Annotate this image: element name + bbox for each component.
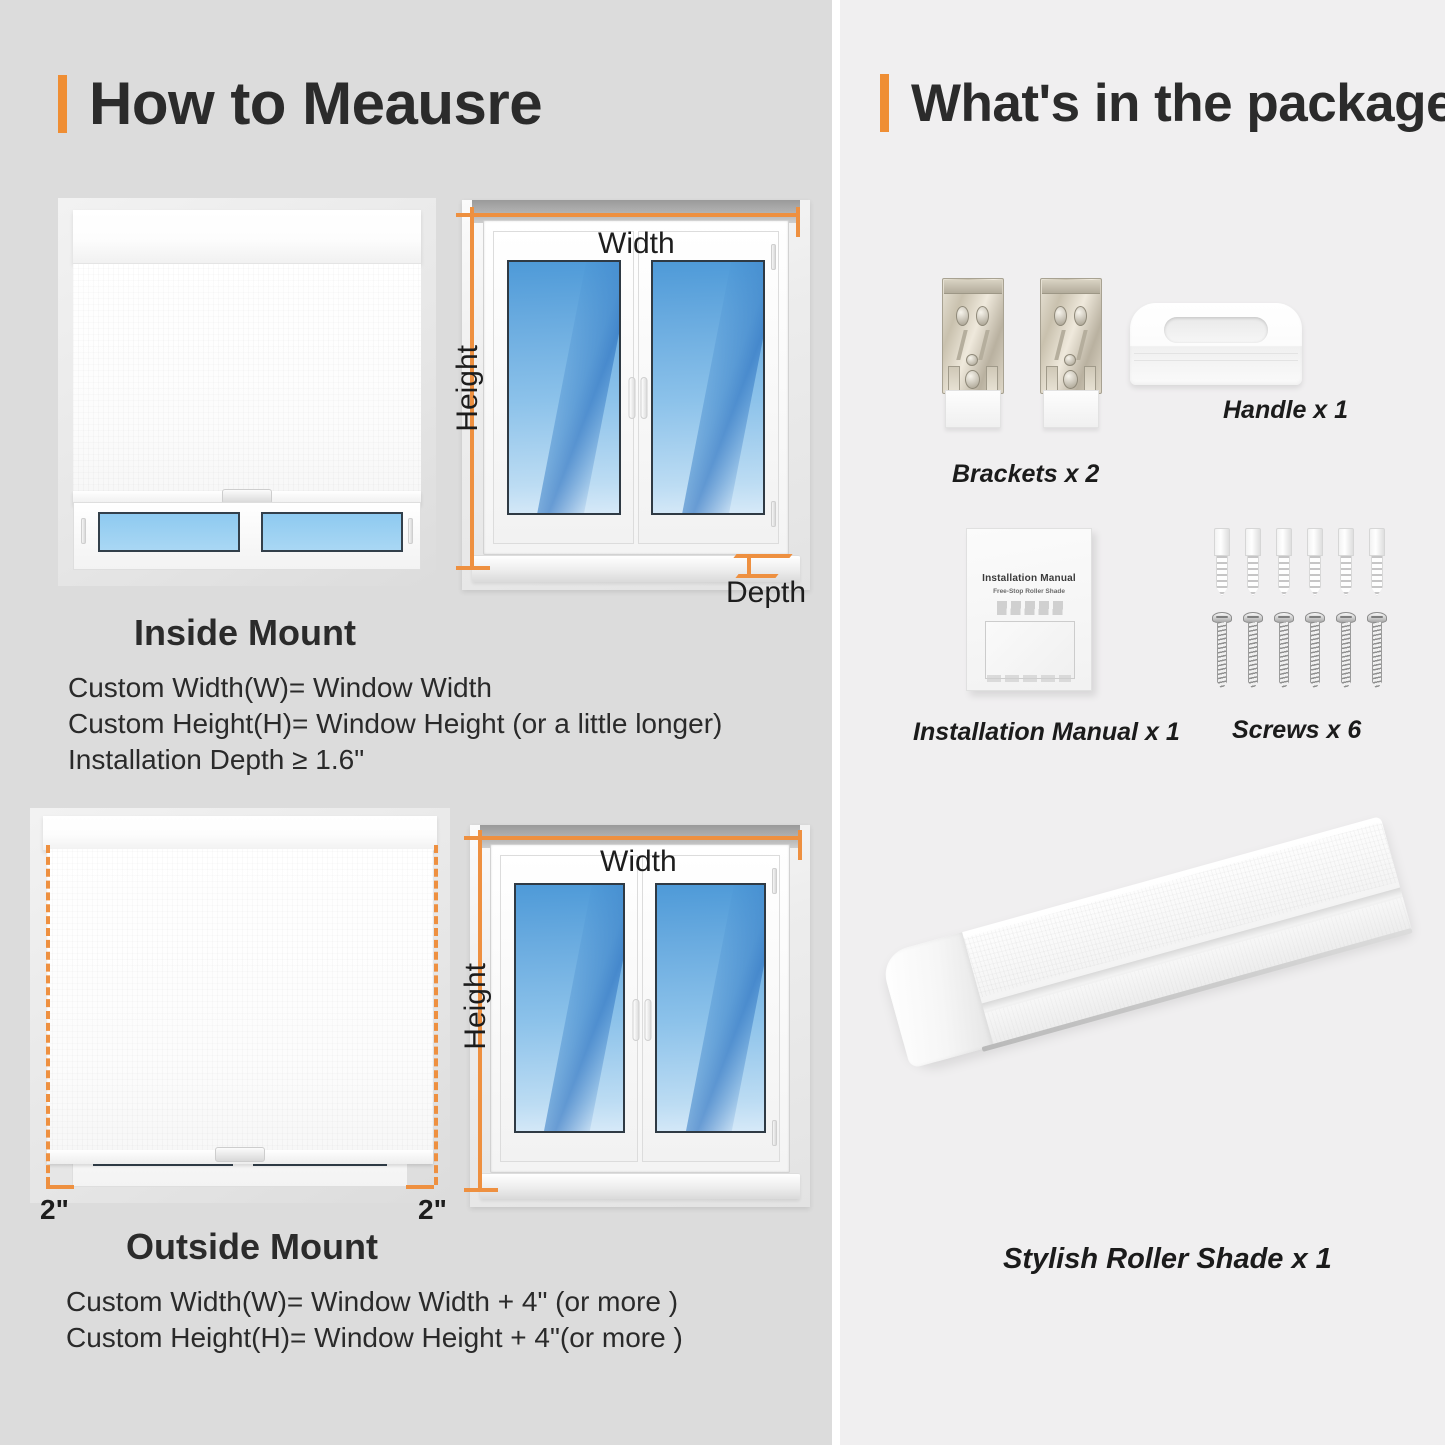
- right-heading-text: What's in the package: [911, 77, 1445, 130]
- shade-fabric: [73, 264, 421, 491]
- screw-icon: [1305, 612, 1325, 690]
- infographic-page: How to Meausre: [0, 0, 1445, 1445]
- width-dimension-cap: [798, 830, 802, 860]
- width-label: Width: [598, 227, 675, 261]
- window-pane-right: [655, 883, 766, 1133]
- wall-anchor-icon: [1212, 528, 1232, 596]
- shade-fabric: [47, 849, 433, 1151]
- wall-anchor-icon: [1367, 528, 1387, 596]
- wall-anchor-icon: [1336, 528, 1356, 596]
- accent-bar-icon: [880, 74, 889, 132]
- bracket-icon: [1040, 278, 1102, 428]
- shade-valance: [43, 816, 438, 852]
- inside-mount-text: Custom Width(W)= Window Width Custom Hei…: [68, 670, 722, 777]
- panel-divider: [832, 0, 840, 1445]
- outside-mount-line-2: Custom Height(H)= Window Height + 4"(or …: [66, 1320, 683, 1356]
- window-recess: [73, 210, 421, 571]
- window-sash-right: [638, 231, 779, 544]
- screws-label: Screws x 6: [1232, 716, 1361, 745]
- height-label: Height: [459, 963, 493, 1050]
- left-panel-heading: How to Meausre: [58, 74, 542, 134]
- manual-cover-title: Installation Manual: [967, 573, 1091, 584]
- width-dimension-line: [470, 213, 800, 217]
- outside-mount-measure-diagram: [470, 825, 810, 1207]
- window-pane-right: [261, 512, 403, 552]
- width-dimension-cap: [796, 207, 800, 237]
- handle-icon: [1130, 303, 1302, 385]
- right-overhang-guide: [434, 845, 438, 1185]
- width-dimension-line: [478, 836, 802, 840]
- roller-shade-icon: [895, 895, 1415, 1225]
- bracket-icon: [942, 278, 1004, 428]
- left-heading-text: How to Meausre: [89, 74, 542, 134]
- package-contents-panel: What's in the package Bra: [840, 0, 1445, 1445]
- screw-icon: [1336, 612, 1356, 690]
- height-label: Height: [451, 345, 485, 432]
- inside-mount-line-1: Custom Width(W)= Window Width: [68, 670, 722, 706]
- pull-tab-icon: [215, 1147, 265, 1162]
- hinge-icon: [771, 244, 776, 270]
- left-overhang-tick: [46, 1185, 74, 1189]
- manual-label: Installation Manual x 1: [913, 718, 1180, 747]
- window-pane-left: [507, 260, 621, 515]
- window-handle-icon: [628, 377, 647, 419]
- wall-anchor-icon: [1243, 528, 1263, 596]
- window-below-shade: [73, 502, 421, 571]
- outside-mount-shade-diagram: [30, 808, 450, 1203]
- hinge-icon: [408, 518, 413, 544]
- window-pane-left: [514, 883, 625, 1133]
- screw-icon: [1274, 612, 1294, 690]
- manual-icon: Installation Manual Free-Stop Roller Sha…: [966, 528, 1092, 691]
- screw-icon: [1212, 612, 1232, 690]
- inside-mount-line-2: Custom Height(H)= Window Height (or a li…: [68, 706, 722, 742]
- hinge-icon: [81, 518, 86, 544]
- inside-mount-shade-diagram: [58, 198, 436, 586]
- roller-shade-label: Stylish Roller Shade x 1: [1003, 1243, 1332, 1276]
- outside-mount-text: Custom Width(W)= Window Width + 4" (or m…: [66, 1284, 683, 1356]
- wall-anchor-icon: [1305, 528, 1325, 596]
- wall-anchor-icon: [1274, 528, 1294, 596]
- left-overhang-label: 2": [40, 1194, 69, 1226]
- window-sill: [480, 1173, 800, 1200]
- hinge-icon: [771, 501, 776, 527]
- right-overhang-tick: [406, 1185, 434, 1189]
- right-panel-heading: What's in the package: [880, 74, 1445, 132]
- window-sash-left: [493, 231, 634, 544]
- height-dimension-cap: [456, 213, 490, 217]
- window-pane-left: [98, 512, 240, 552]
- height-dimension-cap: [456, 566, 490, 570]
- brackets-label: Brackets x 2: [952, 460, 1099, 489]
- window-sash-right: [642, 855, 780, 1162]
- height-dimension-cap: [464, 836, 498, 840]
- width-label: Width: [600, 845, 677, 879]
- window-pane-right: [651, 260, 765, 515]
- depth-label: Depth: [726, 576, 806, 610]
- how-to-measure-panel: How to Meausre: [0, 0, 832, 1445]
- inside-mount-title: Inside Mount: [134, 612, 356, 654]
- hinge-icon: [772, 868, 777, 894]
- height-dimension-cap: [464, 1188, 498, 1192]
- window-handle-icon: [632, 999, 651, 1041]
- window-frame: [483, 220, 789, 555]
- shade-bottom-rail: [47, 1150, 433, 1164]
- depth-dimension-marker: [735, 548, 801, 578]
- accent-bar-icon: [58, 75, 67, 133]
- outside-mount-line-1: Custom Width(W)= Window Width + 4" (or m…: [66, 1284, 683, 1320]
- window-sash-left: [500, 855, 638, 1162]
- manual-cover-subtitle: Free-Stop Roller Shade: [967, 588, 1091, 595]
- right-overhang-label: 2": [418, 1194, 447, 1226]
- left-overhang-guide: [46, 845, 50, 1185]
- hinge-icon: [772, 1120, 777, 1146]
- outside-mount-title: Outside Mount: [126, 1226, 378, 1268]
- screw-icon: [1367, 612, 1387, 690]
- window-frame: [490, 844, 789, 1173]
- handle-label: Handle x 1: [1223, 396, 1348, 425]
- inside-mount-line-3: Installation Depth ≥ 1.6": [68, 742, 722, 778]
- screw-icon: [1243, 612, 1263, 690]
- shade-valance: [73, 210, 421, 264]
